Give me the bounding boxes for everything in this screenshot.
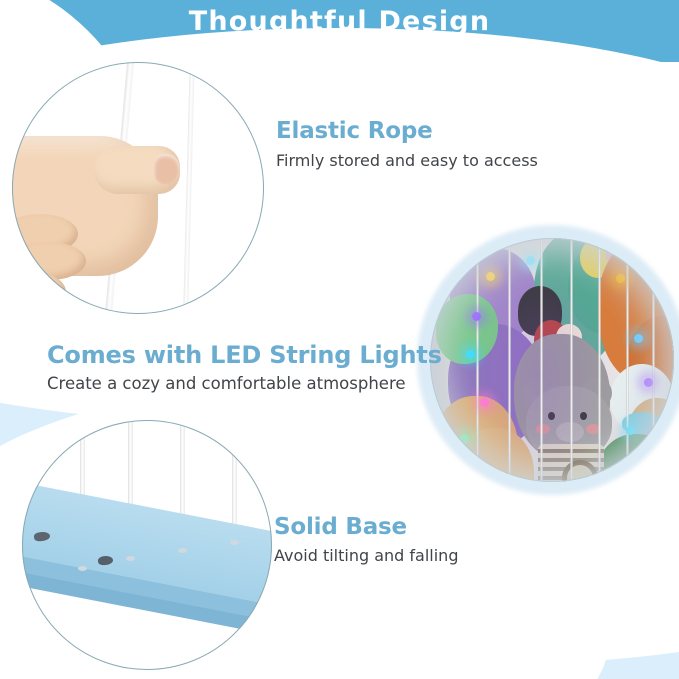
feature-text-elastic-rope: Elastic Rope Firmly stored and easy to a…	[276, 118, 538, 170]
post-base-foot	[78, 566, 87, 571]
photo-solid-base	[22, 420, 272, 670]
elastic-rope-strand-2	[182, 62, 195, 314]
feature-heading: Comes with LED String Lights	[47, 341, 442, 369]
post-base-foot	[230, 540, 239, 545]
page-title: Thoughtful Design	[0, 6, 679, 37]
feature-text-led-string-lights: Comes with LED String Lights Create a co…	[47, 341, 442, 393]
led-light	[488, 468, 497, 477]
post-base-foot	[178, 548, 187, 553]
led-light	[638, 474, 647, 482]
photo-led-plush-toys	[430, 238, 674, 482]
feature-subtitle: Create a cozy and comfortable atmosphere	[47, 374, 442, 393]
feature-heading: Elastic Rope	[276, 118, 538, 144]
feature-heading: Solid Base	[274, 514, 458, 540]
post-base-foot	[126, 556, 135, 561]
feature-subtitle: Avoid tilting and falling	[274, 546, 458, 565]
thumbnail	[154, 154, 180, 184]
feature-text-solid-base: Solid Base Avoid tilting and falling	[274, 514, 458, 565]
infographic-page: Thoughtful Design	[0, 0, 679, 679]
feature-subtitle: Firmly stored and easy to access	[276, 151, 538, 170]
photo-vignette	[430, 238, 674, 482]
photo-elastic-rope	[12, 62, 264, 314]
